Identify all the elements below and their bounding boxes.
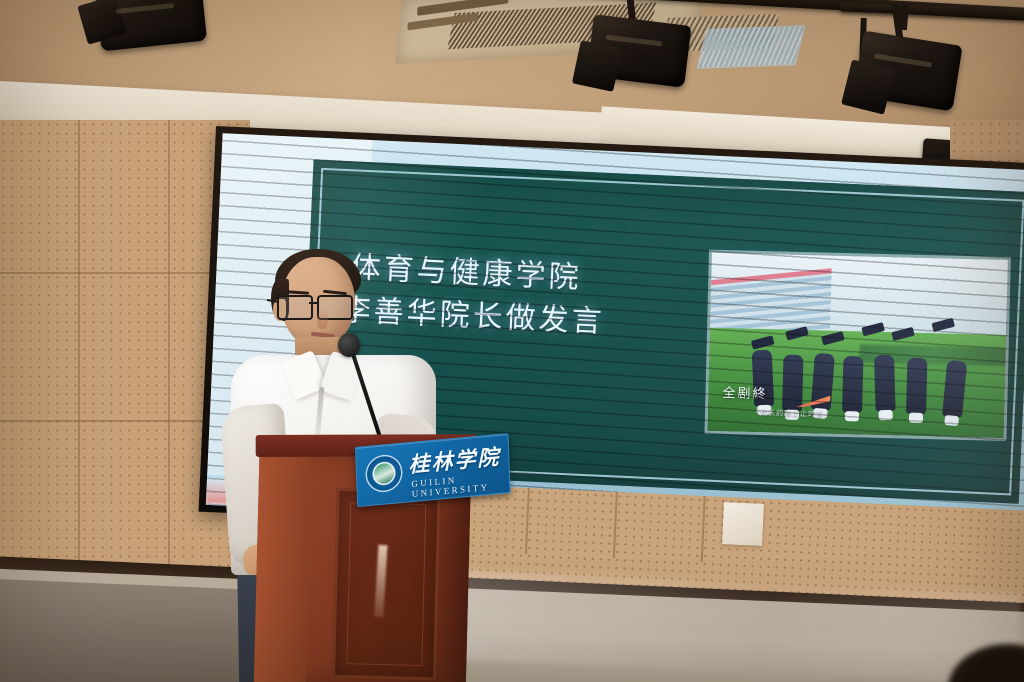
graduate-figure: [842, 356, 863, 412]
speaker-nose: [317, 309, 328, 329]
stage-light-icon: [78, 0, 228, 56]
microphone-head: [338, 333, 360, 357]
graduate-figure: [874, 355, 896, 412]
university-crest-icon: [366, 455, 401, 492]
glasses-lens-left: [277, 295, 313, 320]
graduate-figure: [906, 358, 927, 414]
graduate-figure: [782, 355, 803, 411]
lamp-barndoor: [572, 40, 622, 92]
panel-seam: [168, 120, 170, 590]
lamp-barndoor: [841, 59, 895, 114]
podium-side-edge: [254, 448, 312, 682]
conference-hall-photo: 体育与健康学院 李善华院长做发言: [0, 0, 1024, 682]
podium-front-panel: [332, 488, 441, 680]
wall-access-panel: [722, 502, 764, 546]
ceiling-vent-lit: [697, 25, 806, 68]
stage-light-icon: [572, 4, 712, 96]
panel-seam: [78, 120, 80, 590]
photo-caption-sub: 「成长的路上止的音」: [752, 408, 832, 420]
glasses-bridge: [309, 302, 317, 304]
photo-caption-main: 全剧終: [722, 382, 767, 402]
slide-photo: 全剧終 「成长的路上止的音」: [708, 253, 1008, 438]
stage-light-icon: [842, 16, 992, 124]
